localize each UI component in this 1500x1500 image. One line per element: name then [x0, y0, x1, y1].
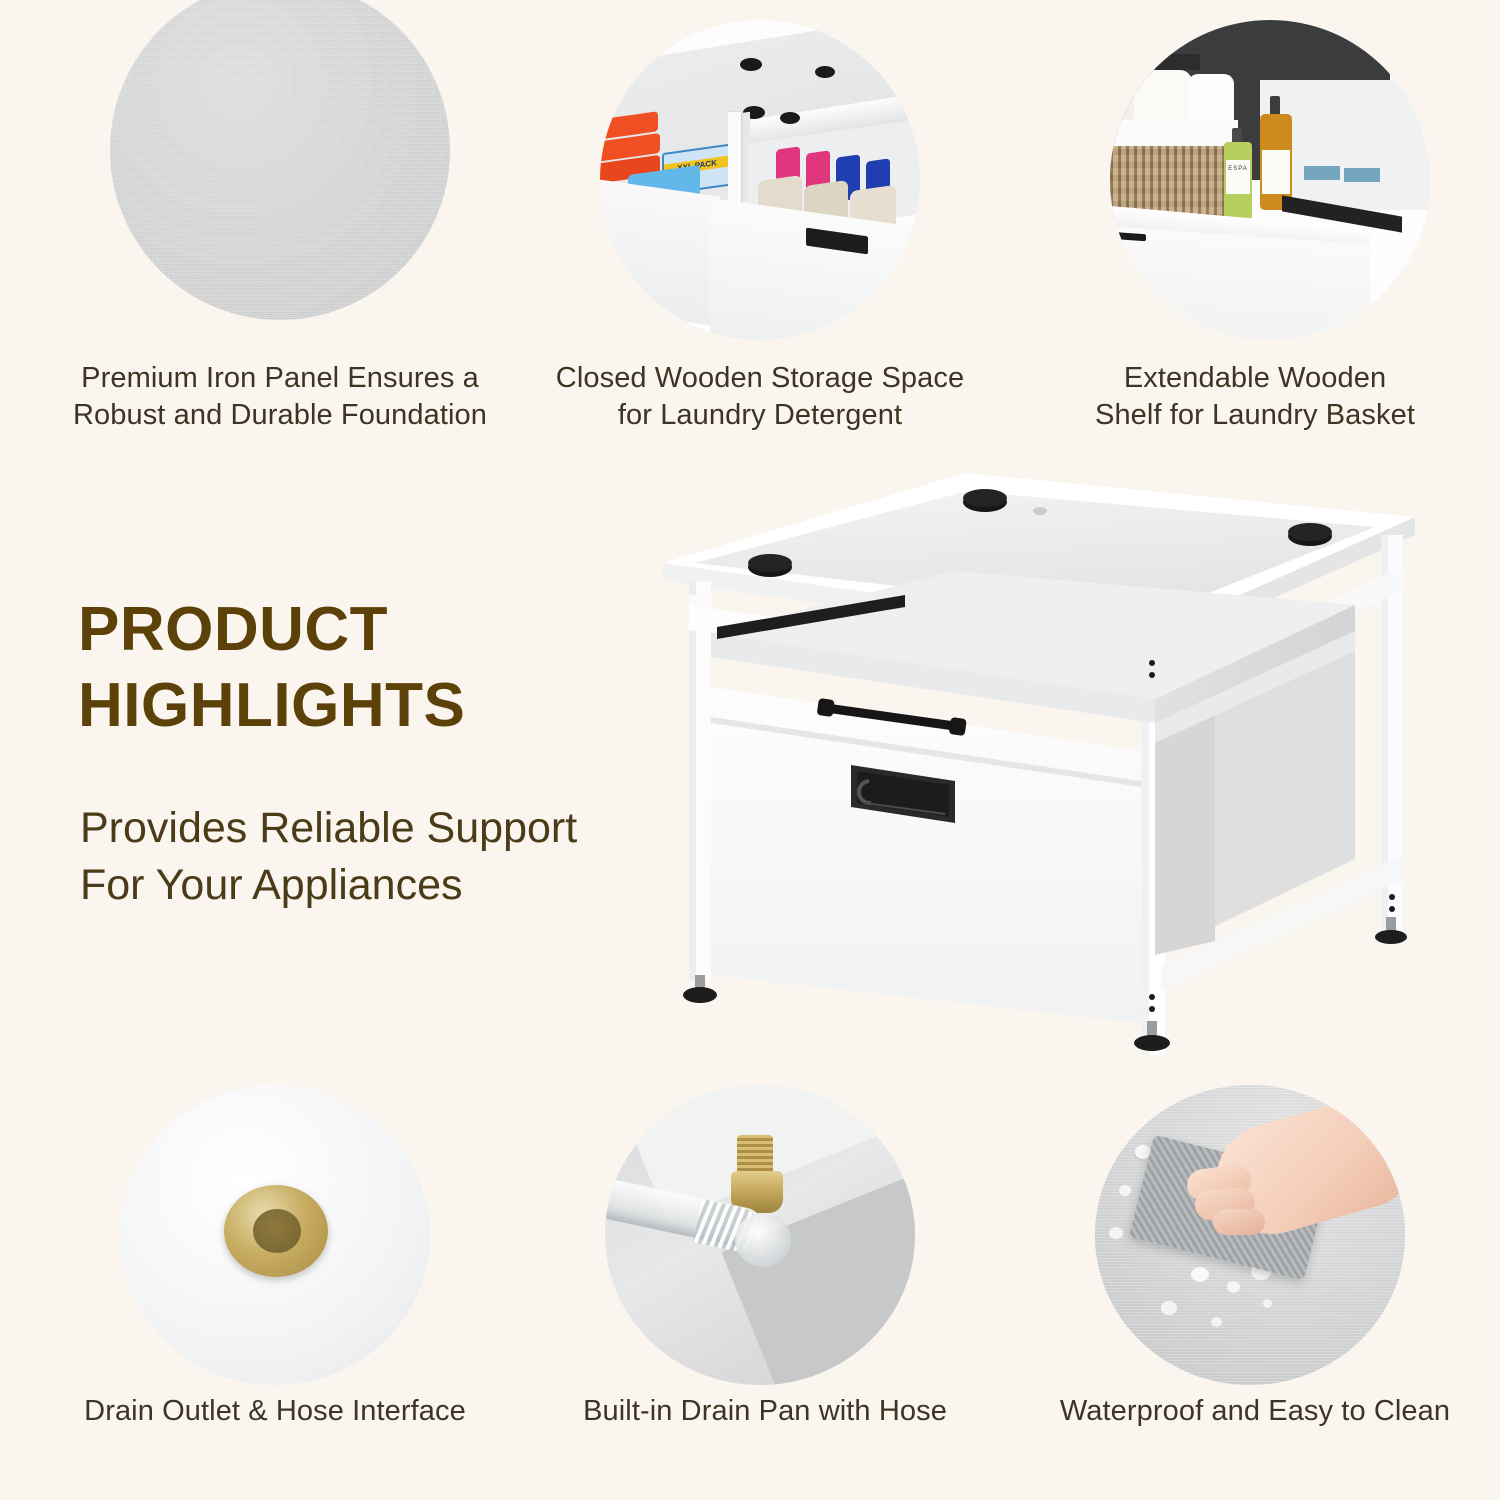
waterproof-image [1095, 1085, 1405, 1385]
bolt-icon [1149, 1006, 1155, 1012]
page-subtitle: Provides Reliable Support For Your Appli… [80, 800, 577, 914]
drain-pan-image [605, 1085, 915, 1385]
rubber-pad-icon [963, 489, 1007, 507]
lower-compartment-inner [1155, 705, 1215, 955]
feature-caption-drain-pan: Built-in Drain Pan with Hose [520, 1393, 1010, 1430]
water-droplet [1119, 1185, 1131, 1196]
bolt-icon [1149, 660, 1155, 666]
feature-caption-extendable-shelf: Extendable Wooden Shelf for Laundry Bask… [1030, 360, 1480, 434]
lower-drawer-front [1110, 224, 1370, 340]
hose-connector [735, 1213, 791, 1267]
pedestal-stand-illustration [655, 455, 1435, 1055]
water-droplet [1109, 1227, 1123, 1239]
bolt-icon [1389, 894, 1395, 900]
bolt-icon [1389, 906, 1395, 912]
rubber-pad-icon [1288, 523, 1332, 541]
left-drawer-front [600, 175, 720, 326]
water-droplet [1191, 1267, 1209, 1282]
drain-outlet-image [120, 1085, 430, 1385]
feature-caption-iron-panel: Premium Iron Panel Ensures a Robust and … [40, 360, 520, 434]
basket-liner [1110, 120, 1238, 148]
drain-hole-icon [253, 1209, 301, 1253]
closed-storage-image: XXL PACK [600, 20, 920, 340]
page-title: PRODUCT HIGHLIGHTS [78, 592, 465, 743]
drain-hole-icon [1033, 507, 1047, 515]
product-highlights-page: Premium Iron Panel Ensures a Robust and … [0, 0, 1500, 1500]
feature-caption-drain-outlet: Drain Outlet & Hose Interface [30, 1393, 520, 1430]
rubber-pad-icon [748, 554, 792, 572]
leveling-foot [683, 975, 717, 1003]
blue-tile [1304, 166, 1340, 180]
blue-tile [1344, 168, 1380, 182]
bolt-icon [1149, 672, 1155, 678]
iron-panel-image [110, 0, 450, 320]
water-droplet [1211, 1317, 1222, 1327]
extendable-shelf-image: ESPA [1110, 20, 1430, 340]
water-droplet [1227, 1281, 1240, 1293]
water-droplet [1263, 1299, 1272, 1308]
bolt-icon [1149, 994, 1155, 1000]
machine-detail [1130, 54, 1200, 70]
finger [1213, 1209, 1265, 1235]
rubber-pad-icon [740, 58, 762, 71]
water-droplet [1161, 1301, 1177, 1315]
feature-caption-closed-storage: Closed Wooden Storage Space for Laundry … [510, 360, 1010, 434]
feature-caption-waterproof: Waterproof and Easy to Clean [1010, 1393, 1500, 1430]
bottle-label [1262, 150, 1290, 194]
main-product-image [655, 455, 1435, 1055]
espa-label-text: ESPA [1228, 166, 1248, 173]
rubber-pad-icon [780, 112, 800, 124]
rubber-pad-icon [815, 66, 835, 78]
iron-texture [110, 0, 450, 320]
